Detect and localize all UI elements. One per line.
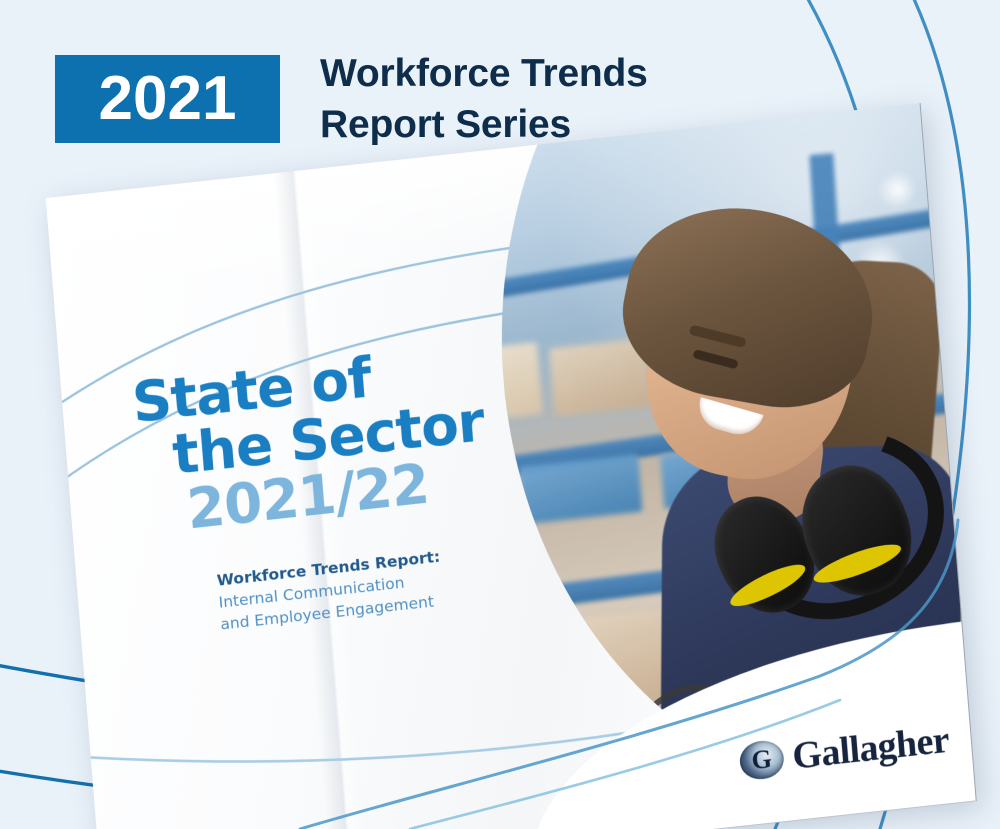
page-title-line-1: Workforce Trends — [320, 48, 648, 99]
year-badge-label: 2021 — [99, 68, 237, 130]
banner-header: 2021 Workforce Trends Report Series — [0, 0, 1000, 160]
report-cover-page: State of the Sector 2021/22 Workforce Tr… — [46, 103, 977, 829]
gallagher-g-mark-icon: G — [738, 739, 785, 782]
cover-text-block: State of the Sector 2021/22 Workforce Tr… — [130, 329, 579, 644]
year-badge: 2021 — [55, 55, 280, 143]
cover-subtitle: Workforce Trends Report: Internal Commun… — [146, 531, 579, 643]
page-title-line-2: Report Series — [320, 99, 648, 150]
page-title: Workforce Trends Report Series — [320, 48, 648, 151]
report-cover-document: State of the Sector 2021/22 Workforce Tr… — [46, 103, 977, 829]
promo-banner: 2021 Workforce Trends Report Series — [0, 0, 1000, 829]
gallagher-mark-letter: G — [751, 746, 773, 774]
